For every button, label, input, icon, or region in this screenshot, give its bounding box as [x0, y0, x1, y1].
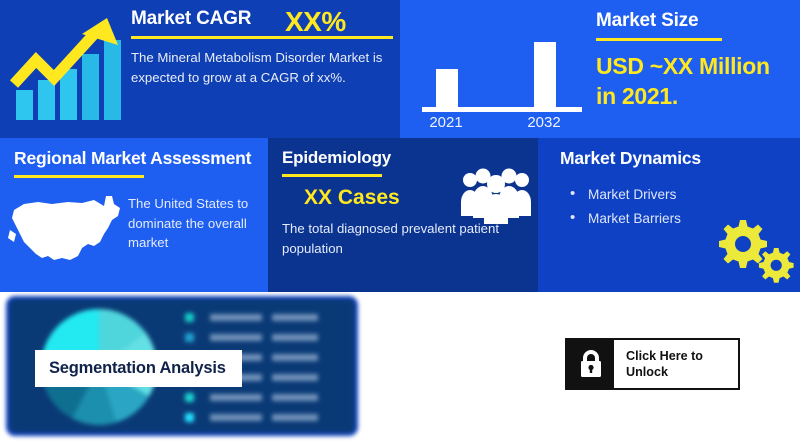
regional-market-assessment-panel: Regional Market Assessment The United St…	[0, 138, 268, 292]
legend-swatch	[185, 313, 194, 322]
click-here-to-unlock-button[interactable]: Click Here to Unlock	[565, 338, 740, 390]
epidemiology-title: Epidemiology	[282, 148, 528, 168]
lock-icon	[567, 340, 614, 388]
legend-label	[210, 334, 262, 341]
segmentation-analysis-label: Segmentation Analysis	[35, 350, 242, 387]
epidemiology-panel: Epidemiology XX Cases The total diagnose…	[268, 138, 538, 292]
legend-value	[272, 414, 318, 421]
market-dynamics-title: Market Dynamics	[560, 148, 790, 169]
title-underline	[282, 174, 382, 177]
legend-item	[185, 387, 345, 407]
title-underline	[596, 38, 722, 41]
regional-title: Regional Market Assessment	[14, 148, 258, 169]
unlock-button-label: Click Here to Unlock	[614, 340, 738, 388]
market-cagr-panel: Market CAGR The Mineral Metabolism Disor…	[0, 0, 400, 138]
infographic-root: Market CAGR The Mineral Metabolism Disor…	[0, 0, 800, 443]
legend-swatch	[185, 393, 194, 402]
market-size-title: Market Size	[596, 10, 792, 32]
legend-value	[272, 394, 318, 401]
list-item: Market Drivers	[566, 183, 790, 207]
legend-item	[185, 327, 345, 347]
market-size-content: Market Size USD ~XX Million in 2021.	[596, 10, 792, 111]
x-tick-2032: 2032	[527, 114, 560, 128]
legend-item	[185, 307, 345, 327]
legend-swatch	[185, 413, 194, 422]
legend-label	[210, 414, 262, 421]
market-size-panel: 2021 2032 Market Size USD ~XX Million in…	[400, 0, 800, 138]
market-dynamics-panel: Market Dynamics Market Drivers Market Ba…	[538, 138, 800, 292]
legend-swatch	[185, 333, 194, 342]
gears-icon	[708, 214, 796, 284]
legend-label	[210, 314, 262, 321]
legend-value	[272, 374, 318, 381]
market-cagr-content: Market CAGR The Mineral Metabolism Disor…	[131, 8, 393, 87]
x-tick-2021: 2021	[429, 114, 462, 128]
usa-map-icon	[8, 190, 126, 268]
regional-header: Regional Market Assessment	[14, 148, 258, 178]
people-group-icon	[460, 166, 532, 226]
title-underline	[14, 175, 144, 178]
legend-value	[272, 334, 318, 341]
market-cagr-title: Market CAGR	[131, 8, 393, 30]
growth-bar-chart-arrow-icon	[10, 12, 130, 122]
market-size-bar-chart: 2021 2032	[412, 28, 592, 128]
market-cagr-value: XX%	[285, 6, 346, 38]
legend-value	[272, 354, 318, 361]
legend-item	[185, 407, 345, 427]
market-size-value: USD ~XX Million in 2021.	[596, 51, 792, 111]
legend-value	[272, 314, 318, 321]
market-cagr-description: The Mineral Metabolism Disorder Market i…	[131, 48, 393, 87]
title-underline	[131, 36, 393, 39]
regional-description: The United States to dominate the overal…	[128, 194, 260, 253]
legend-label	[210, 394, 262, 401]
